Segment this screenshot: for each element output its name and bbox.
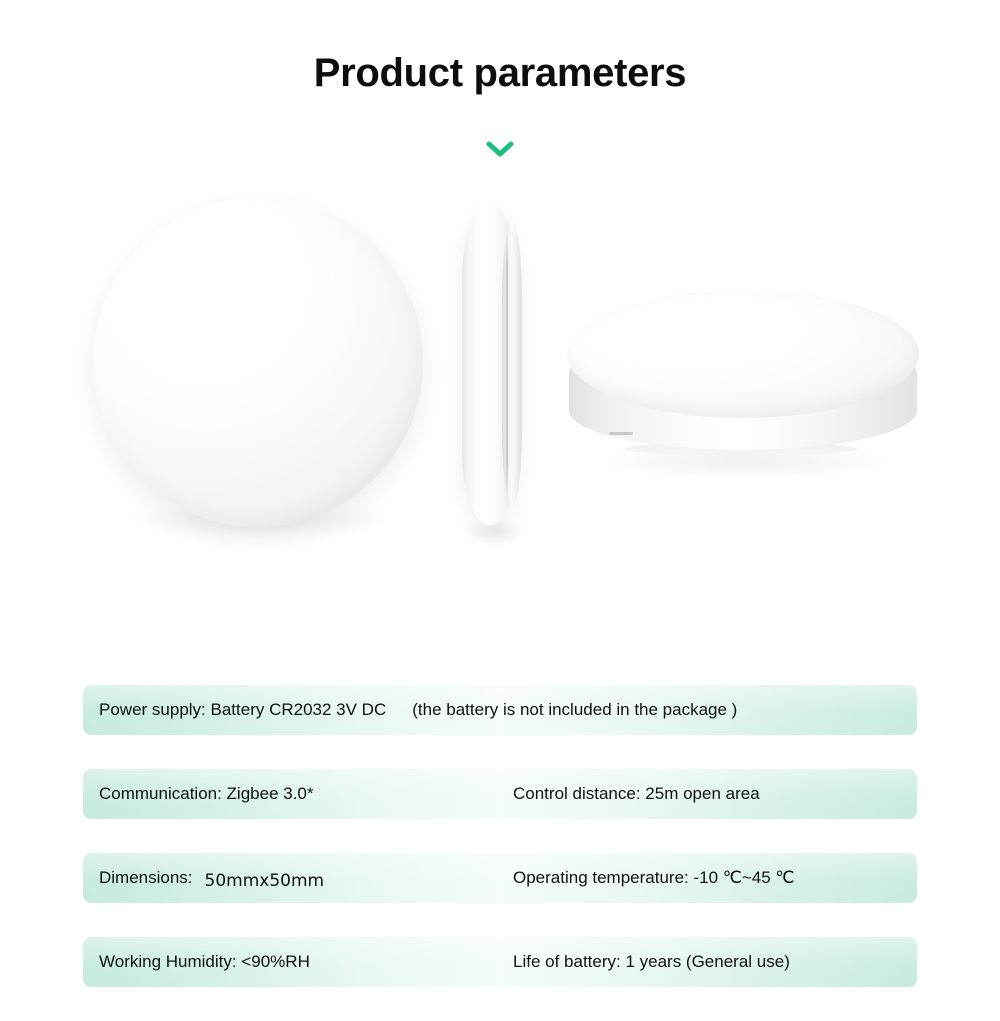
- product-side-view-shadow: [464, 521, 526, 543]
- spec-row: Dimensions: 50mmx50mm Operating temperat…: [83, 853, 917, 903]
- spec-communication-label: Communication: Zigbee 3.0*: [99, 784, 314, 804]
- spec-communication: Communication: Zigbee 3.0*: [99, 769, 314, 819]
- spec-list: Power supply: Battery CR2032 3V DC (the …: [83, 685, 917, 1021]
- spec-control-distance: Control distance: 25m open area: [513, 769, 760, 819]
- page-title: Product parameters: [0, 50, 1000, 96]
- spec-dimensions: Dimensions: 50mmx50mm: [99, 853, 324, 903]
- spec-power-supply: Power supply: Battery CR2032 3V DC (the …: [99, 685, 737, 735]
- product-angled-top: [567, 290, 919, 418]
- product-side-view: [462, 205, 528, 525]
- spec-row: Communication: Zigbee 3.0* Control dista…: [83, 769, 917, 819]
- product-angled-notch: [609, 432, 633, 435]
- spec-power-supply-note: (the battery is not included in the pack…: [386, 700, 737, 720]
- spec-power-supply-label: Power supply: Battery CR2032 3V DC: [99, 700, 386, 720]
- spec-battery-life: Life of battery: 1 years (General use): [513, 937, 790, 987]
- spec-dimensions-value: 50mmx50mm: [193, 871, 325, 891]
- spec-working-humidity: Working Humidity: <90%RH: [99, 937, 310, 987]
- product-angled-view: [567, 290, 922, 490]
- spec-dimensions-label: Dimensions:: [99, 868, 193, 888]
- spec-operating-temperature-label: Operating temperature: -10 ℃~45 ℃: [513, 868, 795, 888]
- spec-operating-temperature: Operating temperature: -10 ℃~45 ℃: [513, 853, 795, 903]
- product-side-rim: [502, 223, 522, 507]
- spec-row: Power supply: Battery CR2032 3V DC (the …: [83, 685, 917, 735]
- spec-working-humidity-label: Working Humidity: <90%RH: [99, 952, 310, 972]
- spec-control-distance-label: Control distance: 25m open area: [513, 784, 760, 804]
- product-side-seam: [506, 229, 508, 501]
- product-top-view: [93, 197, 423, 527]
- product-image-band: [0, 185, 1000, 585]
- spec-row: Working Humidity: <90%RH Life of battery…: [83, 937, 917, 987]
- spec-battery-life-label: Life of battery: 1 years (General use): [513, 952, 790, 972]
- chevron-down-icon: [485, 139, 515, 159]
- chevron-down-icon-wrap: [0, 134, 1000, 164]
